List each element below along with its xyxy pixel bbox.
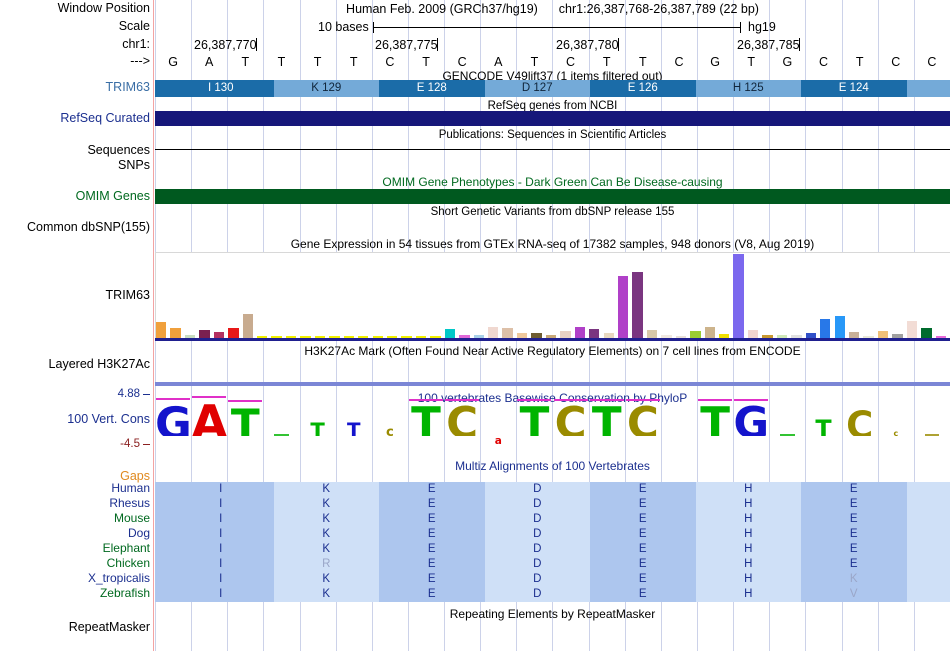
genome-browser: Window Position Human Feb. 2009 (GRCh37/… xyxy=(0,0,950,651)
codon-block[interactable]: E 128 xyxy=(379,80,485,97)
gtex-baseline xyxy=(155,338,950,341)
conservation-tick xyxy=(780,434,794,436)
refseq-feature-bar[interactable] xyxy=(155,111,950,126)
multiz-cell-partial xyxy=(907,587,950,602)
multiz-cell[interactable]: K xyxy=(274,482,380,497)
ruler-label: 26,387,785 xyxy=(737,38,800,52)
multiz-cell[interactable]: H xyxy=(696,482,802,497)
multiz-row[interactable]: IKEDEHV xyxy=(155,587,950,602)
multiz-row[interactable]: IKEDEHK xyxy=(155,572,950,587)
label-gencode-gene[interactable]: TRIM63 xyxy=(0,81,150,94)
conservation-letter: T xyxy=(516,403,552,436)
gtex-bar[interactable] xyxy=(820,319,830,338)
sequence-base[interactable]: T xyxy=(589,55,625,69)
label-gtex-gene[interactable]: TRIM63 xyxy=(0,289,150,302)
multiz-cell[interactable]: D xyxy=(485,527,591,542)
multiz-cell-partial xyxy=(907,527,950,542)
multiz-cell[interactable]: E xyxy=(379,557,485,572)
multiz-cell[interactable]: H xyxy=(696,587,802,602)
multiz-cell[interactable]: D xyxy=(485,482,591,497)
multiz-cell[interactable]: E xyxy=(379,542,485,557)
gtex-bar[interactable] xyxy=(228,328,238,338)
sequence-base[interactable]: T xyxy=(408,55,444,69)
codon-block[interactable]: H 125 xyxy=(696,80,802,97)
multiz-cell[interactable]: E xyxy=(379,482,485,497)
conservation-letter: G xyxy=(155,402,191,436)
sequence-base[interactable]: C xyxy=(661,55,697,69)
multiz-cell[interactable]: I xyxy=(168,482,274,497)
sequence-base[interactable]: C xyxy=(372,55,408,69)
dbsnp-title: Short Genetic Variants from dbSNP releas… xyxy=(155,206,950,218)
multiz-row[interactable]: IKEDEHE xyxy=(155,497,950,512)
ruler-tick xyxy=(256,38,257,51)
conservation-letter: T xyxy=(805,418,841,436)
multiz-cell[interactable]: R xyxy=(274,557,380,572)
publications-title: Publications: Sequences in Scientific Ar… xyxy=(155,129,950,141)
conservation-letter: c xyxy=(372,426,408,436)
gtex-bar[interactable] xyxy=(690,331,700,338)
cons-min-tick xyxy=(143,444,150,445)
gtex-bar[interactable] xyxy=(156,322,166,338)
conservation-letter: T xyxy=(227,404,263,436)
label-h3k27ac[interactable]: Layered H3K27Ac xyxy=(0,358,150,371)
ruler-label: 26,387,770 xyxy=(194,38,257,52)
sequence-base[interactable]: T xyxy=(625,55,661,69)
multiz-cell[interactable]: K xyxy=(274,512,380,527)
multiz-cell[interactable]: E xyxy=(801,482,907,497)
multiz-cell-partial xyxy=(907,557,950,572)
multiz-cell[interactable]: H xyxy=(696,557,802,572)
conservation-letter: T xyxy=(589,403,625,436)
gtex-bar[interactable] xyxy=(170,328,180,338)
multiz-cell[interactable]: I xyxy=(168,497,274,512)
codon-block[interactable]: E 124 xyxy=(801,80,907,97)
multiz-cell[interactable]: H xyxy=(696,527,802,542)
multiz-cell[interactable]: E xyxy=(379,572,485,587)
scale-bar-cap-right xyxy=(740,22,741,33)
multiz-title: Multiz Alignments of 100 Vertebrates xyxy=(155,459,950,473)
cons-max-value: 4.88 xyxy=(0,388,140,401)
multiz-cell[interactable]: K xyxy=(274,527,380,542)
conservation-tick xyxy=(274,434,288,436)
multiz-row[interactable]: IKEDEHE xyxy=(155,527,950,542)
multiz-cell-partial xyxy=(155,587,168,602)
ruler-label: 26,387,775 xyxy=(375,38,438,52)
assembly-name: Human Feb. 2009 (GRCh37/hg19) xyxy=(346,2,538,16)
conservation-letter: G xyxy=(733,403,769,436)
omim-title: OMIM Gene Phenotypes - Dark Green Can Be… xyxy=(155,175,950,189)
cons-max-tick xyxy=(143,394,150,395)
multiz-species-label[interactable]: Dog xyxy=(0,527,150,540)
label-cons[interactable]: 100 Vert. Cons xyxy=(0,413,150,426)
label-refseq[interactable]: RefSeq Curated xyxy=(0,112,150,125)
codon-block[interactable]: K 129 xyxy=(274,80,380,97)
conservation-letter: T xyxy=(697,403,733,436)
gtex-bar[interactable] xyxy=(488,327,498,338)
multiz-cell[interactable]: E xyxy=(590,542,696,557)
conservation-letter: a xyxy=(480,436,516,444)
conservation-letter: C xyxy=(625,403,661,436)
gtex-bar[interactable] xyxy=(589,329,599,338)
ruler-label: 26,387,780 xyxy=(556,38,619,52)
center-line xyxy=(153,0,154,651)
conservation-highlight-bar xyxy=(192,396,226,398)
multiz-species-label[interactable]: Mouse xyxy=(0,512,150,525)
label-dbsnp[interactable]: Common dbSNP(155) xyxy=(0,221,150,234)
codon-block[interactable]: E 126 xyxy=(590,80,696,97)
gtex-bar-chart[interactable] xyxy=(156,252,950,338)
multiz-cell[interactable]: I xyxy=(168,512,274,527)
multiz-cell[interactable]: E xyxy=(379,497,485,512)
conservation-letter: T xyxy=(336,421,372,436)
codon-block-partial[interactable] xyxy=(155,80,168,97)
gtex-bar[interactable] xyxy=(907,321,917,338)
conservation-highlight-bar xyxy=(517,399,551,401)
multiz-cell[interactable]: E xyxy=(379,527,485,542)
label-repeatmasker[interactable]: RepeatMasker xyxy=(0,621,150,634)
multiz-species-label[interactable]: Chicken xyxy=(0,557,150,570)
multiz-cell-partial xyxy=(907,572,950,587)
repeatmasker-title: Repeating Elements by RepeatMasker xyxy=(155,607,950,621)
window-position-value: chr1:26,387,768-26,387,789 (22 bp) xyxy=(559,2,759,16)
multiz-cell[interactable]: I xyxy=(168,572,274,587)
multiz-cell-partial xyxy=(155,557,168,572)
conservation-highlight-bar xyxy=(590,399,624,401)
gtex-bar[interactable] xyxy=(502,328,512,338)
sequence-base[interactable]: C xyxy=(878,55,914,69)
gtex-title: Gene Expression in 54 tissues from GTEx … xyxy=(155,237,950,251)
multiz-cell[interactable]: E xyxy=(801,527,907,542)
multiz-row[interactable]: IKEDEHE xyxy=(155,482,950,497)
multiz-cell-partial xyxy=(155,542,168,557)
conservation-highlight-bar xyxy=(626,399,660,401)
multiz-species-label[interactable]: X_tropicalis xyxy=(0,572,150,585)
codon-block[interactable]: I 130 xyxy=(168,80,274,97)
sequence-base[interactable]: G xyxy=(155,55,191,69)
conservation-highlight-bar xyxy=(445,399,479,401)
conservation-letter: C xyxy=(842,408,878,436)
multiz-cell[interactable]: K xyxy=(801,572,907,587)
multiz-cell[interactable]: H xyxy=(696,572,802,587)
conservation-letter: c xyxy=(878,430,914,436)
multiz-cell[interactable]: E xyxy=(801,512,907,527)
h3k27ac-signal-bar xyxy=(155,382,950,386)
multiz-cell-partial xyxy=(907,497,950,512)
cons-min-value: -4.5 xyxy=(0,438,140,451)
gtex-bar[interactable] xyxy=(632,272,642,338)
sequence-base[interactable]: G xyxy=(697,55,733,69)
multiz-species-label[interactable]: Human xyxy=(0,482,150,495)
sequence-base[interactable]: T xyxy=(516,55,552,69)
label-sequences[interactable]: Sequences xyxy=(0,144,150,157)
multiz-cell[interactable]: E xyxy=(801,557,907,572)
conservation-highlight-bar xyxy=(228,400,262,402)
multiz-cell[interactable]: I xyxy=(168,527,274,542)
multiz-cell[interactable]: K xyxy=(274,497,380,512)
scale-bar-cap-left xyxy=(373,22,374,33)
gtex-bar[interactable] xyxy=(243,314,253,338)
ruler-tick xyxy=(437,38,438,51)
multiz-cell[interactable]: H xyxy=(696,497,802,512)
multiz-cell[interactable]: I xyxy=(168,557,274,572)
multiz-species-label[interactable]: Elephant xyxy=(0,542,150,555)
conservation-letter: T xyxy=(300,420,336,436)
multiz-cell[interactable]: E xyxy=(590,482,696,497)
sequence-base[interactable]: C xyxy=(553,55,589,69)
multiz-cell-partial xyxy=(907,542,950,557)
sequence-base[interactable]: T xyxy=(263,55,299,69)
multiz-row[interactable]: IKEDEHE xyxy=(155,542,950,557)
multiz-cell[interactable]: E xyxy=(590,512,696,527)
gtex-bar[interactable] xyxy=(647,330,657,338)
multiz-cell[interactable]: I xyxy=(168,587,274,602)
sequence-base[interactable]: G xyxy=(769,55,805,69)
gtex-bar[interactable] xyxy=(575,327,585,338)
label-omim[interactable]: OMIM Genes xyxy=(0,190,150,203)
multiz-cell[interactable]: D xyxy=(485,512,591,527)
multiz-cell[interactable]: D xyxy=(485,572,591,587)
sequence-base[interactable]: C xyxy=(805,55,841,69)
ruler-tick xyxy=(799,38,800,51)
multiz-species-label[interactable]: Rhesus xyxy=(0,497,150,510)
conservation-letter: _ xyxy=(661,433,697,436)
multiz-cell-partial xyxy=(155,572,168,587)
conservation-tick xyxy=(925,434,939,436)
gtex-bar[interactable] xyxy=(199,330,209,338)
conservation-highlight-bar xyxy=(409,399,443,401)
multiz-row[interactable]: IKEDEHE xyxy=(155,512,950,527)
conservation-letter: C xyxy=(553,403,589,436)
gtex-bar[interactable] xyxy=(445,329,455,338)
multiz-cell-partial xyxy=(907,482,950,497)
multiz-cell[interactable]: E xyxy=(801,497,907,512)
assembly-db-label: hg19 xyxy=(748,20,776,34)
multiz-cell-partial xyxy=(155,482,168,497)
gtex-bar[interactable] xyxy=(705,327,715,338)
conservation-highlight-bar xyxy=(734,399,768,401)
label-snps[interactable]: SNPs xyxy=(0,159,150,172)
multiz-cell[interactable]: E xyxy=(590,527,696,542)
multiz-cell[interactable]: E xyxy=(590,557,696,572)
multiz-cell[interactable]: E xyxy=(590,497,696,512)
multiz-cell[interactable]: D xyxy=(485,557,591,572)
multiz-cell-partial xyxy=(907,512,950,527)
multiz-species-label[interactable]: Zebrafish xyxy=(0,587,150,600)
sequence-base[interactable]: T xyxy=(300,55,336,69)
multiz-cell-partial xyxy=(155,497,168,512)
sequence-base[interactable]: C xyxy=(444,55,480,69)
label-scale: Scale xyxy=(0,20,150,33)
codon-block[interactable]: D 127 xyxy=(485,80,591,97)
sequence-base[interactable]: T xyxy=(733,55,769,69)
multiz-cell[interactable]: H xyxy=(696,512,802,527)
conservation-letter: C xyxy=(444,403,480,436)
multiz-cell[interactable]: E xyxy=(590,587,696,602)
label-chrom: chr1: xyxy=(0,38,150,51)
label-window-position: Window Position xyxy=(0,2,150,15)
label-strand: ---> xyxy=(0,55,150,68)
gtex-bar[interactable] xyxy=(560,331,570,338)
sequence-base[interactable]: A xyxy=(191,55,227,69)
sequences-feature-line xyxy=(155,149,950,150)
sequence-base[interactable]: A xyxy=(480,55,516,69)
omim-feature-bar[interactable] xyxy=(155,189,950,204)
assembly-title: Human Feb. 2009 (GRCh37/hg19) chr1:26,38… xyxy=(155,2,950,16)
codon-block-partial[interactable] xyxy=(907,80,950,97)
multiz-cell[interactable]: E xyxy=(801,542,907,557)
gtex-bar[interactable] xyxy=(618,276,628,338)
multiz-cell[interactable]: E xyxy=(379,587,485,602)
multiz-cell[interactable]: K xyxy=(274,587,380,602)
multiz-cell[interactable]: K xyxy=(274,572,380,587)
multiz-cell[interactable]: I xyxy=(168,542,274,557)
sequence-base[interactable]: T xyxy=(227,55,263,69)
multiz-row[interactable]: IREDEHE xyxy=(155,557,950,572)
multiz-cell[interactable]: E xyxy=(590,572,696,587)
gtex-bar[interactable] xyxy=(835,316,845,339)
scale-bar xyxy=(373,27,741,28)
gtex-bar[interactable] xyxy=(733,254,743,338)
multiz-cell-partial xyxy=(155,527,168,542)
conservation-highlight-bar xyxy=(698,399,732,401)
sequence-base[interactable]: C xyxy=(914,55,950,69)
scale-bases-label: 10 bases xyxy=(318,20,369,34)
multiz-cell[interactable]: D xyxy=(485,497,591,512)
multiz-cell[interactable]: V xyxy=(801,587,907,602)
conservation-letter: T xyxy=(408,403,444,436)
sequence-base[interactable]: T xyxy=(336,55,372,69)
multiz-cell[interactable]: K xyxy=(274,542,380,557)
multiz-cell[interactable]: H xyxy=(696,542,802,557)
gtex-bar[interactable] xyxy=(921,328,931,338)
conservation-highlight-bar xyxy=(554,399,588,401)
multiz-cell-partial xyxy=(155,512,168,527)
sequence-base[interactable]: T xyxy=(842,55,878,69)
gtex-bar[interactable] xyxy=(748,330,758,338)
conservation-letter: A xyxy=(191,400,227,436)
gtex-bar[interactable] xyxy=(878,331,888,338)
multiz-cell[interactable]: E xyxy=(379,512,485,527)
multiz-cell[interactable]: D xyxy=(485,542,591,557)
multiz-cell[interactable]: D xyxy=(485,587,591,602)
ruler-tick xyxy=(618,38,619,51)
conservation-highlight-bar xyxy=(156,398,190,400)
h3k27ac-title: H3K27Ac Mark (Often Found Near Active Re… xyxy=(155,344,950,358)
